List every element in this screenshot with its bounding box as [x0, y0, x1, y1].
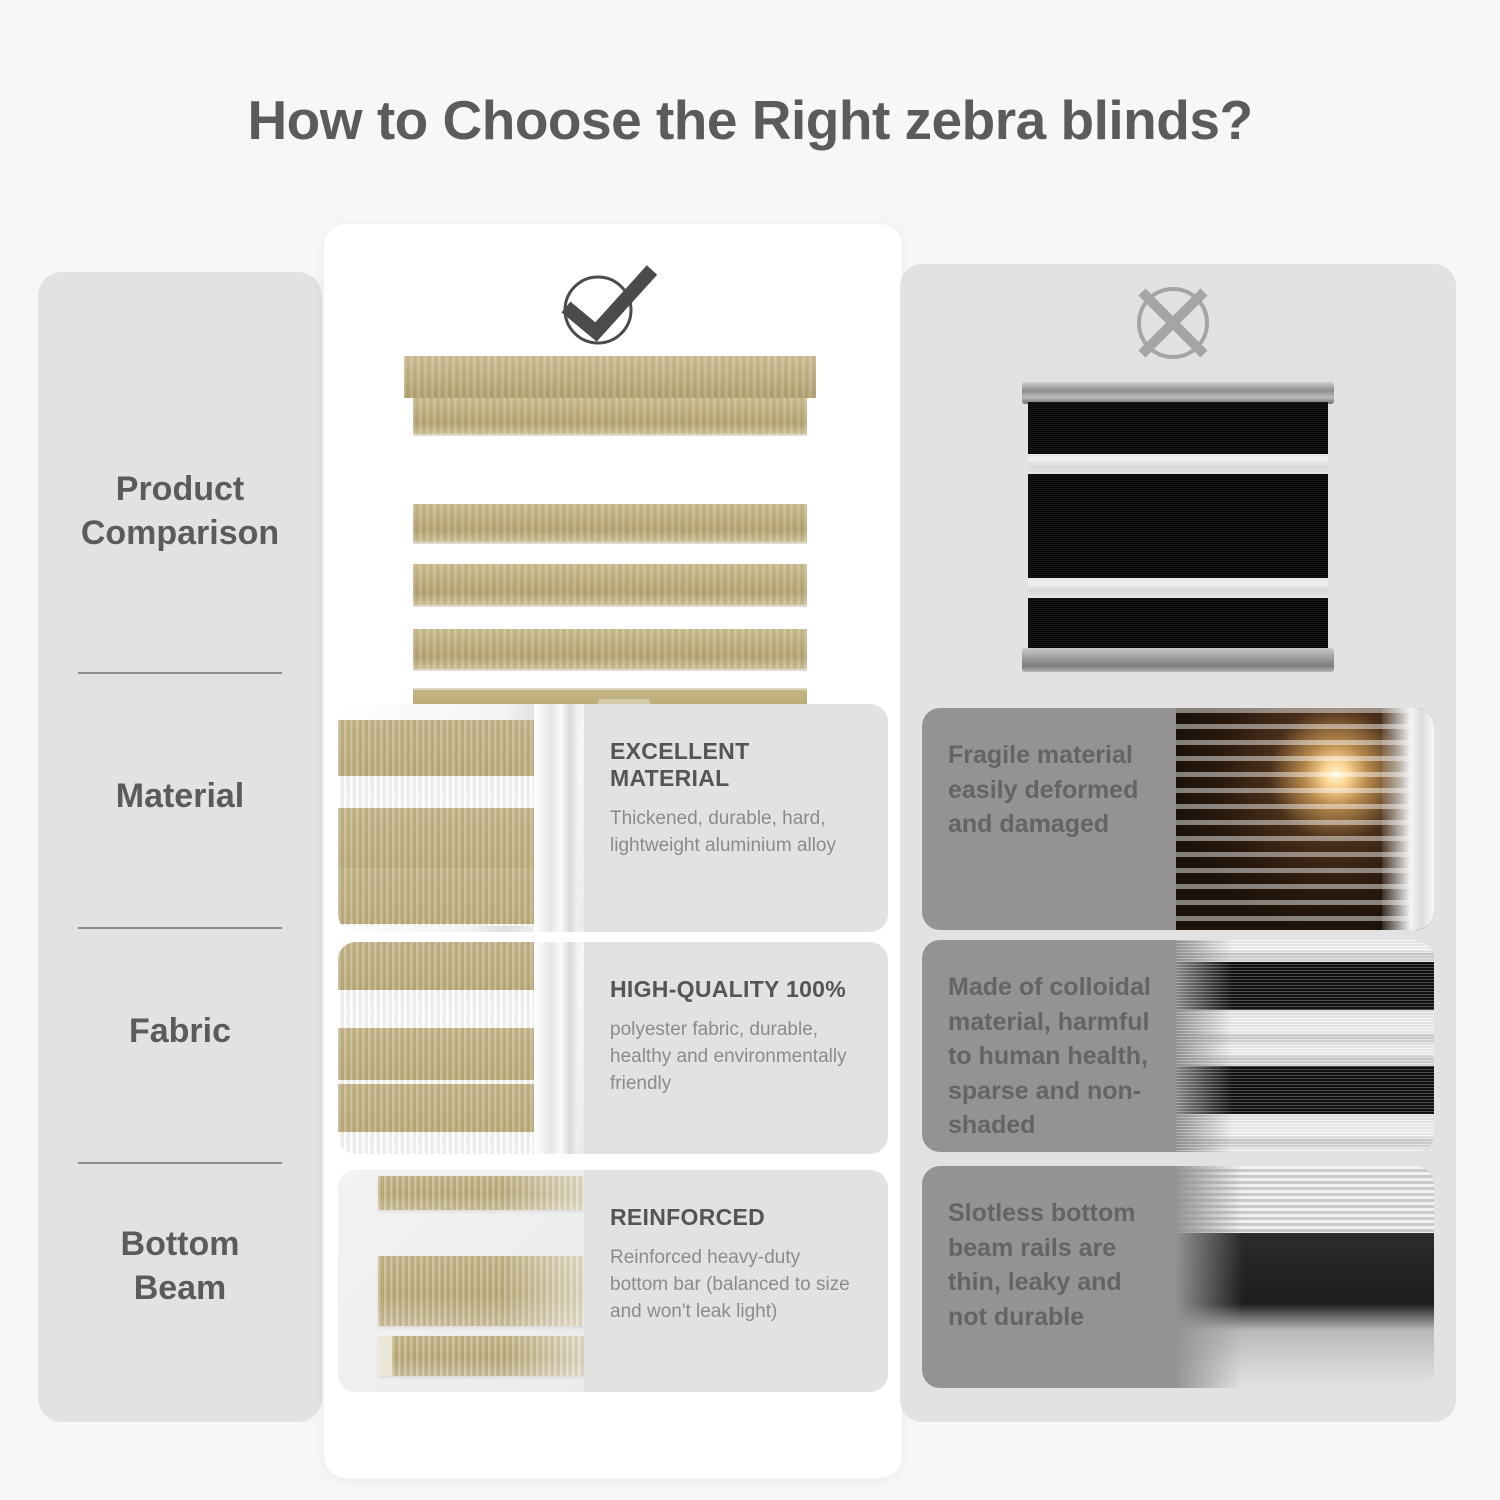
beige-zebra-blind-image [404, 356, 816, 696]
rail-label-line1: Material [116, 775, 245, 819]
blind-valance [404, 356, 816, 398]
x-circle-icon [1118, 278, 1238, 368]
good-feature-fabric: HIGH-QUALITY 100% polyester fabric, dura… [338, 942, 888, 1154]
light-leak-window-photo [1176, 708, 1434, 930]
comparison-infographic: How to Choose the Right zebra blinds? Pr… [0, 0, 1500, 1500]
rail-divider [78, 672, 282, 674]
blind-headrail [1022, 382, 1334, 404]
good-feature-material: EXCELLENT MATERIAL Thickened, durable, h… [338, 704, 888, 932]
beige-blind-window-frame-photo [338, 704, 584, 932]
beige-blind-fabric-photo [338, 942, 584, 1154]
blind-fabric [1028, 402, 1328, 650]
feature-body: Made of colloidal material, harmful to h… [948, 970, 1166, 1143]
rail-divider [78, 927, 282, 929]
bad-feature-fabric: Made of colloidal material, harmful to h… [922, 940, 1434, 1152]
rail-label-fabric: Fabric [38, 962, 322, 1102]
feature-heading: REINFORCED [610, 1204, 862, 1231]
blind-slat [413, 504, 807, 544]
rail-label-line2: Comparison [81, 514, 279, 552]
rail-label-line1: Fabric [129, 1010, 231, 1054]
feature-heading: HIGH-QUALITY 100% [610, 976, 862, 1003]
rail-label-material: Material [38, 727, 322, 867]
rail-label-product-comparison: Product Comparison [38, 422, 322, 602]
page-title: How to Choose the Right zebra blinds? [0, 88, 1500, 152]
feature-body: Reinforced heavy-duty bottom bar (balanc… [610, 1245, 862, 1326]
rail-label-line2: Beam [134, 1269, 227, 1307]
bad-feature-material: Fragile material easily deformed and dam… [922, 708, 1434, 930]
feature-body: Thickened, durable, hard, lightweight al… [610, 806, 862, 860]
black-zebra-blind-image [1022, 382, 1334, 672]
beige-blind-bottom-beam-photo [338, 1170, 584, 1392]
rail-divider [78, 1162, 282, 1164]
blind-slat [413, 398, 807, 436]
blind-slat [413, 629, 807, 671]
thin-bottom-rail-photo [1176, 1166, 1434, 1388]
blind-slat [413, 564, 807, 607]
feature-heading: EXCELLENT MATERIAL [610, 738, 862, 792]
rail-label-line1: Bottom [121, 1225, 240, 1263]
check-circle-icon [548, 262, 668, 352]
bad-feature-bottom-beam: Slotless bottom beam rails are thin, lea… [922, 1166, 1434, 1388]
blind-bottom-rail [1022, 648, 1334, 672]
feature-body: polyester fabric, durable, healthy and e… [610, 1017, 862, 1098]
feature-body: Fragile material easily deformed and dam… [948, 738, 1166, 842]
feature-body: Slotless bottom beam rails are thin, lea… [948, 1196, 1166, 1334]
rail-label-bottom-beam: Bottom Beam [38, 1177, 322, 1357]
rail-label-line1: Product [116, 470, 244, 508]
category-rail: Product Comparison Material Fabric Botto… [38, 272, 322, 1422]
good-feature-bottom-beam: REINFORCED Reinforced heavy-duty bottom … [338, 1170, 888, 1392]
sparse-black-fabric-photo [1176, 940, 1434, 1152]
